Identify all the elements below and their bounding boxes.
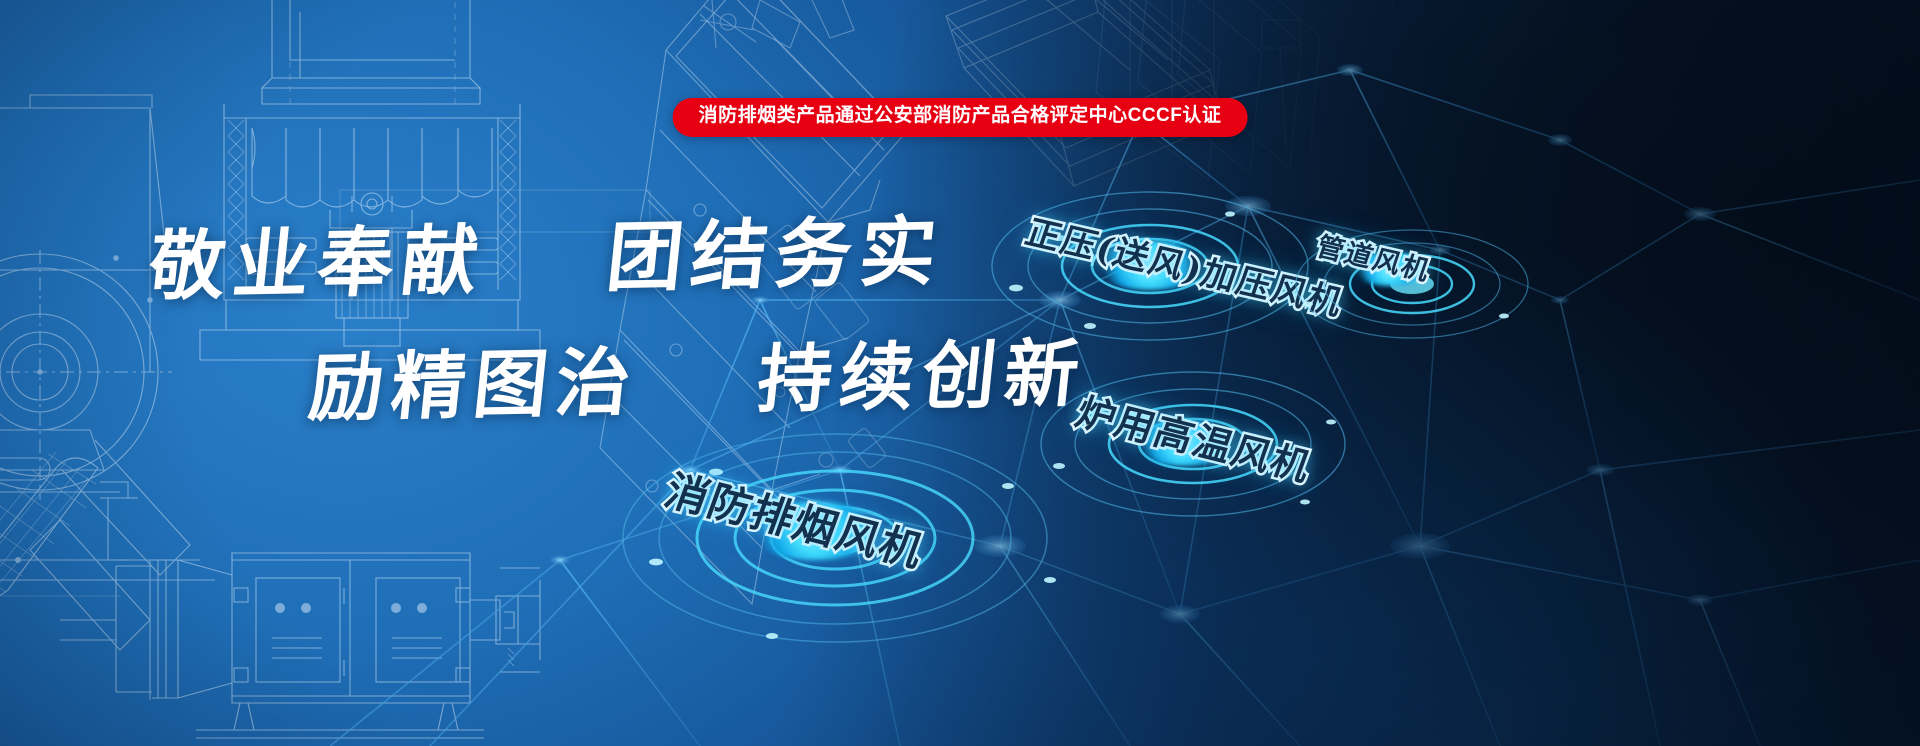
certification-badge[interactable]: 消防排烟类产品通过公安部消防产品合格评定中心CCCF认证	[673, 98, 1248, 137]
hero-banner: 正压(送风)加压风机 管道风机	[0, 0, 1920, 746]
